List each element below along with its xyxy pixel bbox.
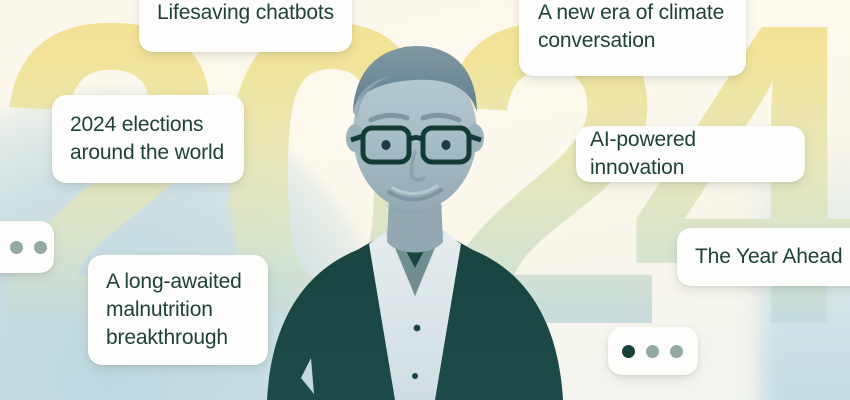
chat-bubble-text: A new era of climate conversation [538, 0, 724, 55]
chat-bubble-elections[interactable]: 2024 elections around the world [52, 95, 244, 183]
chat-bubble-text: The Year Ahead [695, 243, 842, 271]
chat-bubble-lifesaving-chatbots[interactable]: Lifesaving chatbots [139, 0, 352, 52]
chat-bubble-text: AI-powered innovation [590, 126, 791, 182]
chat-bubble-text: A long-awaited malnutrition breakthrough [106, 268, 242, 352]
typing-indicator-right [608, 327, 698, 375]
hero-banner: 2 0 2 4 [0, 0, 850, 400]
typing-dot-active [622, 345, 635, 358]
typing-dot [10, 241, 23, 254]
typing-dot [646, 345, 659, 358]
portrait-photo [265, 28, 565, 400]
portrait-illustration [265, 28, 565, 400]
typing-indicator-left [0, 221, 54, 273]
chat-bubble-ai-powered-innovation[interactable]: AI-powered innovation [576, 126, 805, 182]
chat-bubble-the-year-ahead[interactable]: The Year Ahead [677, 228, 850, 286]
chat-bubble-climate-conversation[interactable]: A new era of climate conversation [519, 0, 746, 76]
chat-bubble-text: 2024 elections around the world [70, 111, 224, 167]
chat-bubble-text: Lifesaving chatbots [157, 0, 334, 27]
typing-dot [670, 345, 683, 358]
typing-dot [34, 241, 47, 254]
chat-bubble-malnutrition-breakthrough[interactable]: A long-awaited malnutrition breakthrough [88, 255, 268, 365]
